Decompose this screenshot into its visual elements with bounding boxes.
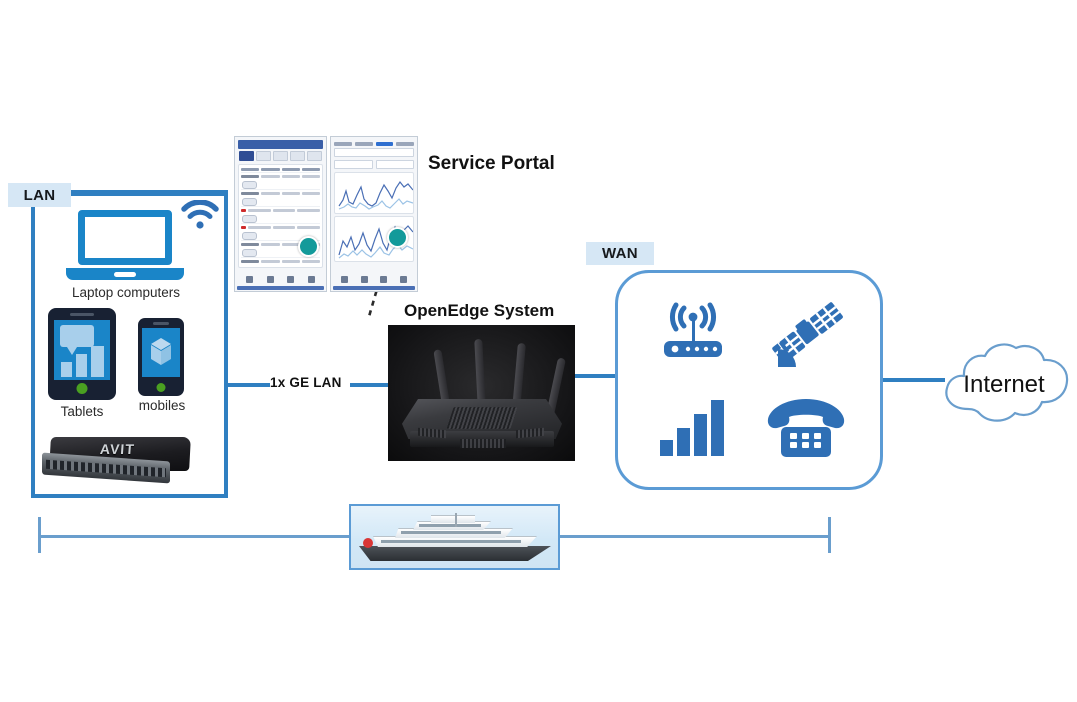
vessel-span-cap-right [828, 517, 831, 553]
portal-tab-lan-stats[interactable] [334, 142, 352, 146]
portal-nav2-icon-2[interactable] [361, 276, 368, 283]
portal-nav-icon-3[interactable] [287, 276, 294, 283]
portal-chart-download [334, 172, 414, 214]
wifi-icon [181, 200, 219, 230]
link-label-ge-lan: 1x GE LAN [270, 375, 342, 390]
portal-select-scale[interactable] [376, 160, 415, 169]
openedge-title: OpenEdge System [404, 301, 554, 321]
mobile-phone-icon [138, 318, 184, 396]
portal-nav-icon-1[interactable] [246, 276, 253, 283]
portal-nav-icon-4[interactable] [308, 276, 315, 283]
tablet-icon [48, 308, 116, 400]
portal-nav2-icon-3[interactable] [380, 276, 387, 283]
tablet-caption: Tablets [34, 404, 130, 419]
link-lan-to-ge [226, 383, 270, 387]
telephone-icon [765, 395, 847, 459]
laptop-caption: Laptop computers [46, 285, 206, 300]
cube-glyph [142, 328, 180, 377]
avit-appliance-icon: AVIT [42, 437, 190, 483]
portal-chart-datarate [334, 216, 414, 262]
portal-tab-speed-test[interactable] [396, 142, 414, 146]
portal-nav2-icon-1[interactable] [341, 276, 348, 283]
wan-zone-box [615, 270, 883, 490]
mobile-caption: mobiles [122, 398, 202, 413]
vessel-span-cap-left [38, 517, 41, 553]
satellite-icon [766, 297, 846, 371]
openedge-router-photo [388, 325, 575, 461]
internet-cloud: Internet [934, 333, 1074, 437]
link-ge-to-openedge [350, 383, 390, 387]
network-diagram-canvas: LAN Laptop computers Tablets [0, 0, 1077, 702]
laptop-icon [66, 210, 184, 280]
vessel-photo [349, 504, 560, 570]
portal-help-bubble-left[interactable] [298, 236, 319, 257]
portal-select-interface[interactable] [334, 160, 373, 169]
portal-nav-icon-2[interactable] [267, 276, 274, 283]
portal-select-period[interactable] [334, 148, 414, 157]
signal-bars-icon [656, 396, 730, 458]
wan-zone-label: WAN [586, 242, 654, 265]
wireless-router-antenna-icon [654, 299, 732, 369]
avit-label: AVIT [99, 441, 135, 457]
portal-tab-usage[interactable] [376, 142, 394, 146]
internet-label: Internet [934, 333, 1074, 437]
portal-nav2-icon-4[interactable] [400, 276, 407, 283]
portal-tab-uptime[interactable] [355, 142, 373, 146]
lan-zone-label: LAN [8, 183, 71, 207]
link-openedge-to-wan [574, 374, 616, 378]
service-portal-usage-screen[interactable] [330, 136, 418, 292]
service-portal-title: Service Portal [428, 153, 555, 175]
service-portal-status-screen[interactable] [234, 136, 327, 292]
portal-help-bubble-right[interactable] [387, 227, 408, 248]
